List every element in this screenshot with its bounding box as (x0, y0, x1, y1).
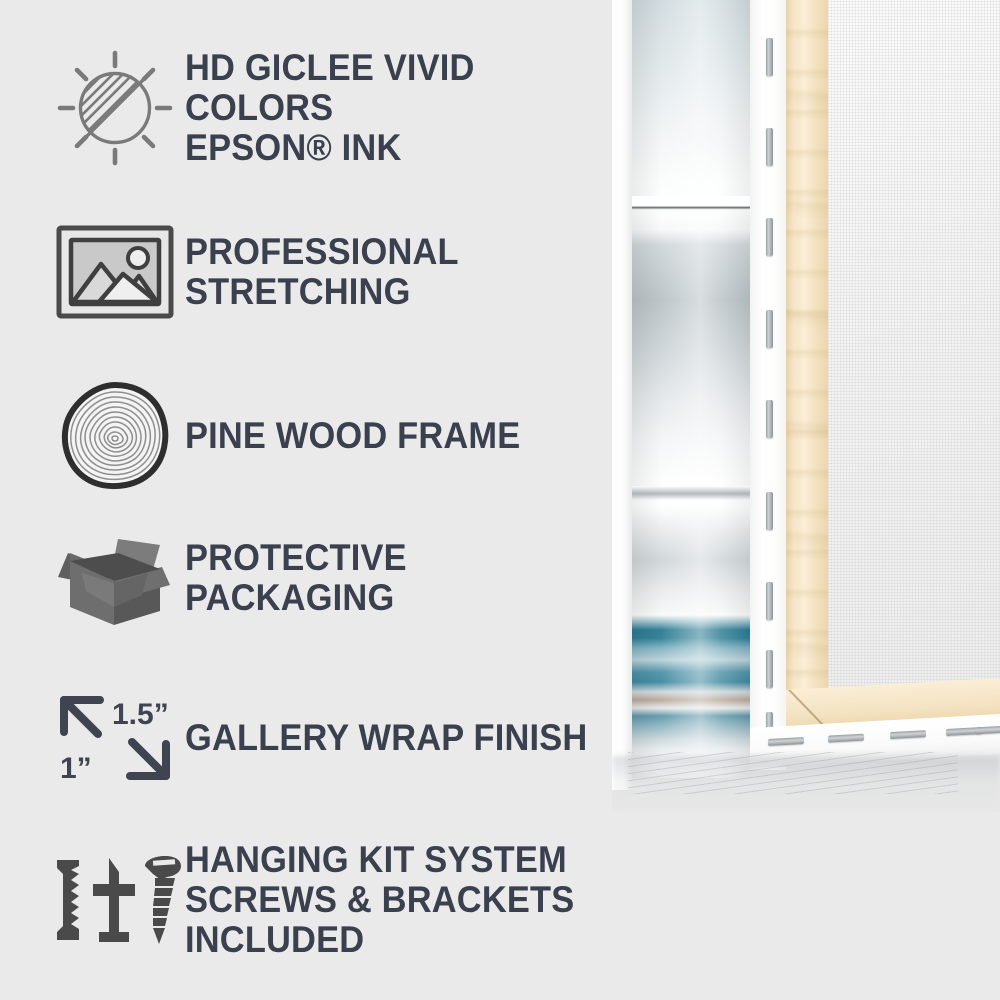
canvas-artwork-side-face (632, 0, 750, 778)
feature-list: HD GICLEE VIVID COLORS EPSON® INK PROFES… (0, 0, 620, 1000)
screws-brackets-icon (45, 854, 185, 946)
canvas-top-fold-line (632, 196, 750, 218)
staple (890, 730, 926, 739)
feature-label: GALLERY WRAP FINISH (185, 718, 587, 758)
staple (766, 582, 773, 620)
tree-rings-icon (45, 380, 185, 492)
dimension-width-label: 1” (60, 752, 92, 785)
feature-row: PROFESSIONAL STRETCHING (45, 222, 620, 322)
canvas-back-fabric (828, 0, 1000, 752)
feature-row: PROTECTIVE PACKAGING (45, 525, 620, 631)
feature-label: PROTECTIVE PACKAGING (185, 538, 590, 618)
feature-row: 1.5” 1” GALLERY WRAP FINISH (45, 690, 618, 786)
staple (766, 492, 773, 530)
feature-row: HD GICLEE VIVID COLORS EPSON® INK (45, 48, 620, 168)
dimension-arrows-icon: 1.5” 1” (45, 690, 185, 786)
staple (766, 218, 773, 256)
dimension-depth-label: 1.5” (112, 698, 169, 731)
feature-label: PROFESSIONAL STRETCHING (185, 232, 590, 312)
canvas-wrap-return-edge (612, 0, 632, 790)
sun-hatched-icon (45, 49, 185, 167)
staple (766, 310, 773, 348)
staple (766, 400, 773, 438)
staple (766, 38, 773, 76)
staple (766, 650, 773, 688)
pine-stretcher-bar-vertical (786, 0, 828, 760)
canvas-back-fold (750, 0, 786, 770)
framed-picture-icon (45, 222, 185, 322)
feature-label: HD GICLEE VIVID COLORS EPSON® INK (185, 48, 590, 168)
staple (828, 734, 864, 743)
canvas-lower-fold-line (632, 486, 750, 500)
feature-label: PINE WOOD FRAME (185, 416, 520, 456)
open-box-icon (45, 525, 185, 631)
feature-row: PINE WOOD FRAME (45, 380, 546, 492)
staple (768, 737, 804, 746)
feature-label: HANGING KIT SYSTEM SCREWS & BRACKETS INC… (185, 840, 590, 960)
staple (976, 725, 1000, 734)
product-feature-infographic: HD GICLEE VIVID COLORS EPSON® INK PROFES… (0, 0, 1000, 1000)
product-photo (612, 0, 1000, 812)
staple (766, 128, 773, 166)
photo-drop-shadow (612, 756, 1000, 812)
feature-row: HANGING KIT SYSTEM SCREWS & BRACKETS INC… (45, 840, 620, 960)
